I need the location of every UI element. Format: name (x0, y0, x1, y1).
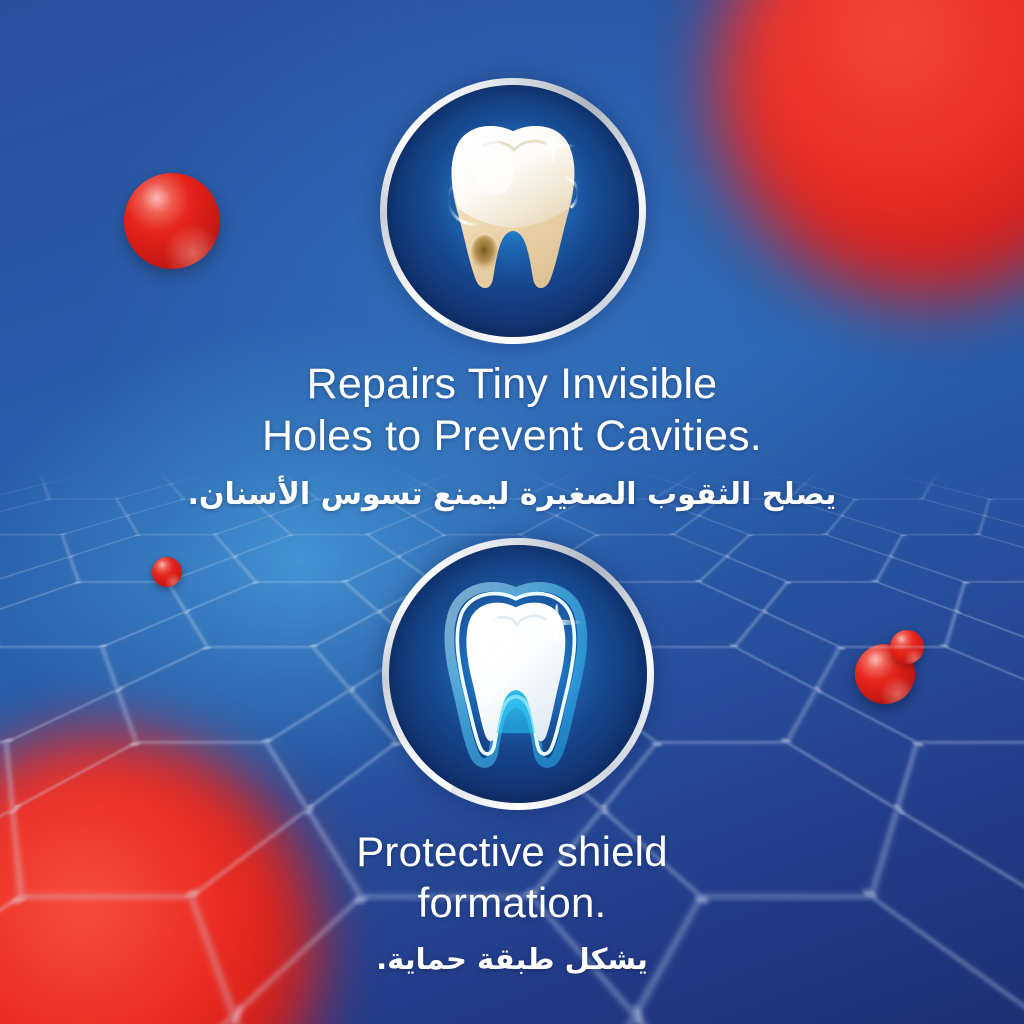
headline-line-2: formation. (0, 877, 1024, 928)
headline-english-repairs: Repairs Tiny Invisible Holes to Prevent … (0, 358, 1024, 463)
badge-inner-disc (387, 85, 639, 337)
feature-icon-badge-shield (382, 538, 654, 810)
headline-arabic-shield: يشكل طبقة حماية. (0, 942, 1024, 976)
tooth-with-shield-icon (389, 545, 647, 803)
feature-text-repairs: Repairs Tiny Invisible Holes to Prevent … (0, 358, 1024, 512)
headline-line-2: Holes to Prevent Cavities. (0, 410, 1024, 462)
headline-line-1: Protective shield (0, 826, 1024, 877)
red-sphere-large-left (124, 173, 220, 269)
red-sphere-small-left (152, 557, 182, 587)
red-blob-top-right (714, 0, 1024, 300)
feature-text-shield: Protective shield formation. يشكل طبقة ح… (0, 826, 1024, 976)
red-sphere-tiny-right (890, 630, 924, 664)
tooth-with-decay-icon (387, 85, 639, 337)
headline-english-shield: Protective shield formation. (0, 826, 1024, 928)
feature-icon-badge-repairs (380, 78, 646, 344)
badge-inner-disc (389, 545, 647, 803)
headline-line-1: Repairs Tiny Invisible (0, 358, 1024, 410)
headline-arabic-repairs: يصلح الثقوب الصغيرة ليمنع تسوس الأسنان. (0, 477, 1024, 512)
advertisement-canvas: Repairs Tiny Invisible Holes to Prevent … (0, 0, 1024, 1024)
